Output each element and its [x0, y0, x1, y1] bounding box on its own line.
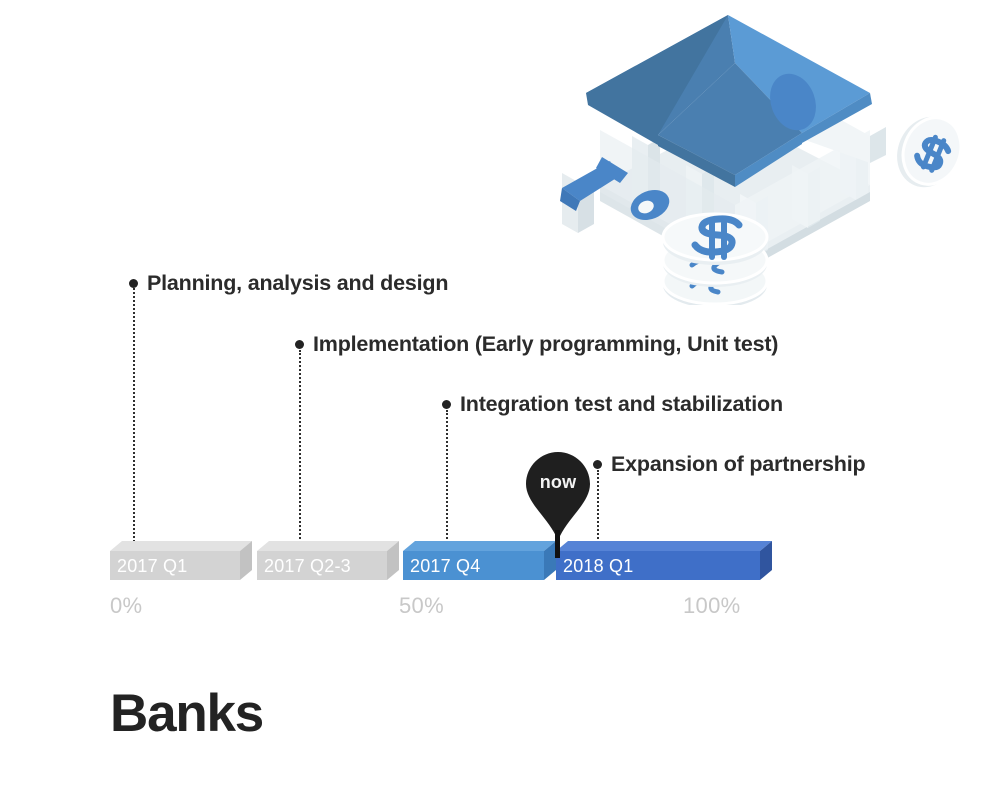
bar-label-2018-q1: 2018 Q1: [563, 557, 633, 575]
bar-label-2017-q1: 2017 Q1: [117, 557, 187, 575]
leader-line-1: [133, 288, 135, 550]
bar-label-2017-q4: 2017 Q4: [410, 557, 480, 575]
leader-line-3: [446, 410, 448, 550]
milestone-dot-icon: [593, 460, 602, 469]
axis-tick-50: 50%: [399, 595, 444, 617]
now-pin-shape: [526, 452, 590, 540]
milestone-1-label: Planning, analysis and design: [147, 273, 448, 295]
bank-illustration: [540, 5, 982, 305]
infographic-canvas: Planning, analysis and design Implementa…: [0, 0, 982, 790]
milestone-4[interactable]: Expansion of partnership: [593, 454, 865, 476]
milestone-2-label: Implementation (Early programming, Unit …: [313, 334, 778, 356]
bar-label-2017-q2-3: 2017 Q2-3: [264, 557, 351, 575]
axis-tick-0: 0%: [110, 595, 142, 617]
milestone-dot-icon: [442, 400, 451, 409]
leader-line-4: [597, 470, 599, 550]
floating-coin: [887, 107, 971, 196]
now-pin-stem: [555, 530, 560, 558]
leader-line-2: [299, 350, 301, 550]
now-marker[interactable]: now: [524, 450, 592, 558]
milestone-dot-icon: [295, 340, 304, 349]
milestone-1[interactable]: Planning, analysis and design: [129, 273, 448, 295]
milestone-3[interactable]: Integration test and stabilization: [442, 394, 783, 416]
milestone-2[interactable]: Implementation (Early programming, Unit …: [295, 334, 778, 356]
axis-tick-100: 100%: [683, 595, 740, 617]
milestone-4-label: Expansion of partnership: [611, 454, 865, 476]
milestone-dot-icon: [129, 279, 138, 288]
page-title: Banks: [110, 687, 263, 740]
coin-stack: [663, 214, 767, 305]
milestone-3-label: Integration test and stabilization: [460, 394, 783, 416]
